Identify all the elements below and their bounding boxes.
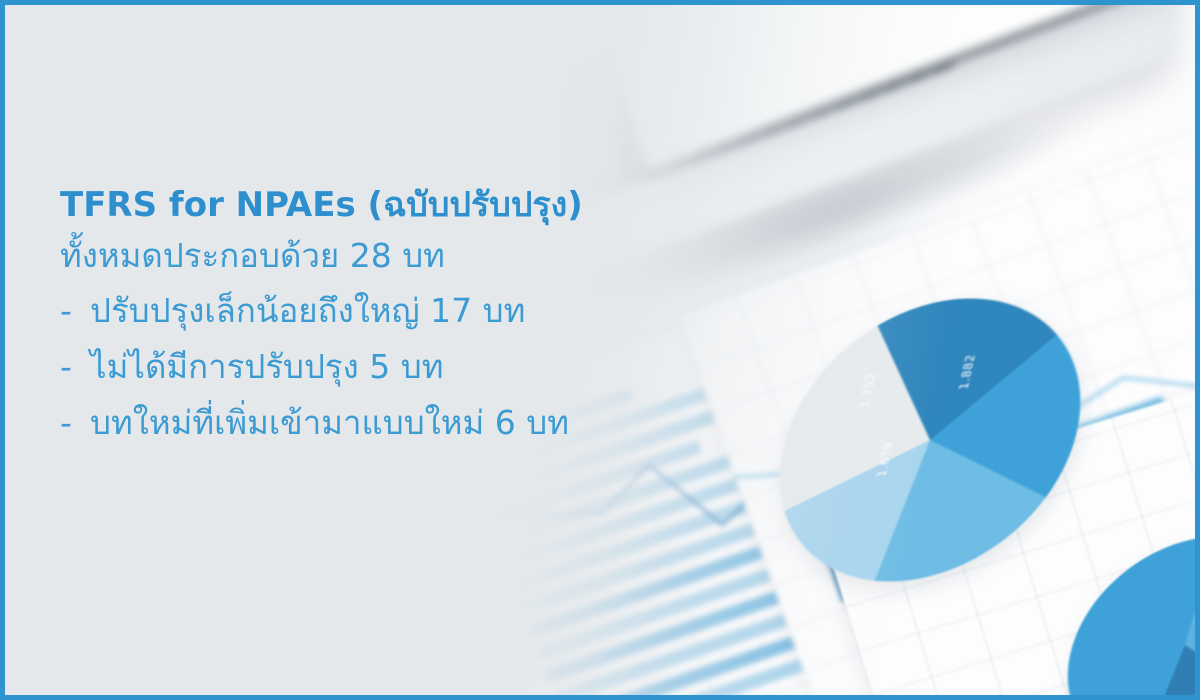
pie-slice-label: 1.752 bbox=[858, 372, 879, 408]
dash-bullet-icon: - bbox=[60, 283, 90, 339]
list-item-label: ปรับปรุงเล็กน้อยถึงใหญ่ 17 บท bbox=[90, 283, 525, 339]
dash-bullet-icon: - bbox=[60, 339, 90, 395]
list-item: - ไม่ได้มีการปรับปรุง 5 บท bbox=[60, 339, 700, 395]
list-item: - ปรับปรุงเล็กน้อยถึงใหญ่ 17 บท bbox=[60, 283, 700, 339]
dash-bullet-icon: - bbox=[60, 395, 90, 451]
pie-slice-label: 1.882 bbox=[957, 354, 978, 390]
pie-slice-label: 1.679 bbox=[875, 441, 896, 477]
chapter-list: - ปรับปรุงเล็กน้อยถึงใหญ่ 17 บท - ไม่ได้… bbox=[60, 283, 700, 451]
donut-chart bbox=[579, 0, 740, 17]
page-title: TFRS for NPAEs (ฉบับปรับปรุง) bbox=[60, 183, 700, 227]
list-item-label: ไม่ได้มีการปรับปรุง 5 บท bbox=[90, 339, 443, 395]
promo-banner: 2.147 1.024 5.578 3.259 3.473 1.882 1.67… bbox=[0, 0, 1200, 700]
copy-block: TFRS for NPAEs (ฉบับปรับปรุง) ทั้งหมดประ… bbox=[60, 183, 700, 451]
list-item-label: บทใหม่ที่เพิ่มเข้ามาแบบใหม่ 6 บท bbox=[90, 395, 569, 451]
subtitle: ทั้งหมดประกอบด้วย 28 บท bbox=[60, 231, 700, 281]
list-item: - บทใหม่ที่เพิ่มเข้ามาแบบใหม่ 6 บท bbox=[60, 395, 700, 451]
